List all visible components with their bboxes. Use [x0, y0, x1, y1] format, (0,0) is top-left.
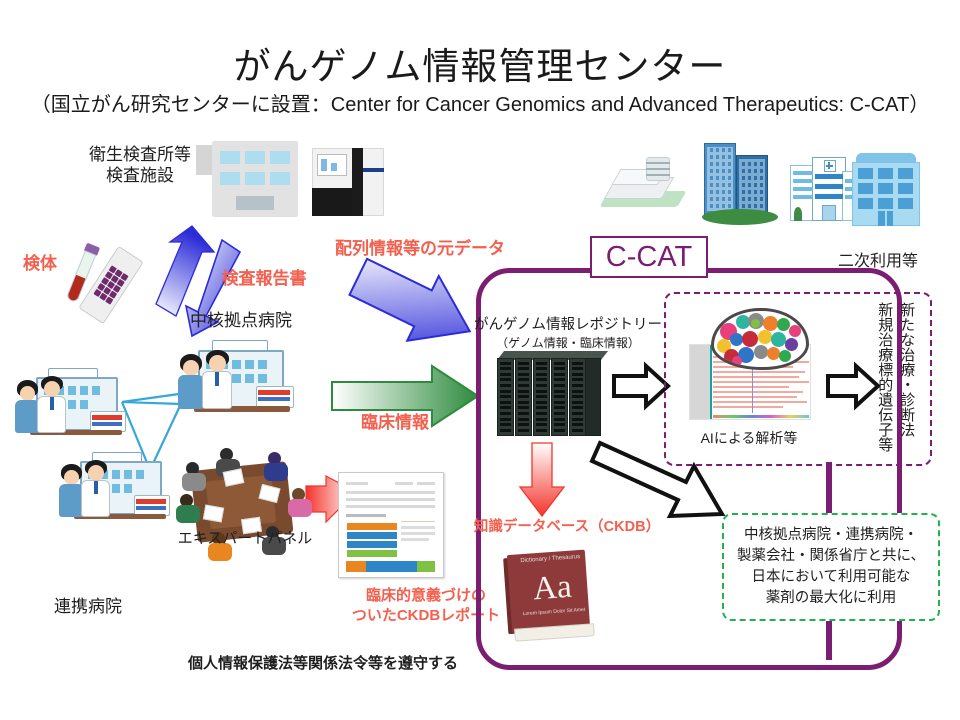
lab-building-annex [196, 145, 212, 175]
outcome-label-new-target-gene: 新規治療標的遺伝子等 [876, 302, 893, 458]
brain-gears-icon [711, 308, 809, 370]
apartment-building-icon [852, 153, 922, 227]
office-towers-icon [704, 143, 776, 225]
sequencer-icon [312, 148, 384, 216]
core-hospital-label: 中核拠点病院 [156, 310, 326, 331]
diagram-canvas: がんゲノム情報管理センター （国立がん研究センターに設置：Center for … [0, 0, 960, 720]
ckdb-report-document-icon [338, 472, 444, 578]
repository-title: がんゲノム情報レポジトリー [470, 316, 666, 334]
ai-analysis-icon [689, 308, 811, 426]
ccat-tag-label: C-CAT [606, 241, 692, 274]
lab-facility-label: 衛生検査所等 検査施設 [70, 144, 210, 187]
compliance-note: 個人情報保護法等関係法令等を遵守する [188, 652, 458, 673]
specimen-label: 検体 [8, 253, 72, 275]
clinical-info-label: 臨床情報 [340, 412, 450, 434]
outcome-label-new-therapy: 新たな治療・診断法 [898, 302, 915, 458]
utilization-box: 中核拠点病院・連携病院・ 製薬会社・関係省庁と共に、 日本において利用可能な 薬… [722, 513, 940, 621]
utilization-text: 中核拠点病院・連携病院・ 製薬会社・関係省庁と共に、 日本において利用可能な 薬… [737, 525, 925, 609]
lab-building-icon [212, 141, 298, 217]
server-rack-icon [497, 358, 601, 442]
ckdb-book-icon: Dictionary / Thesaurus Aa Lorem Ipsum Do… [503, 549, 603, 647]
secondary-use-label: 二次利用等 [818, 252, 938, 272]
ai-analysis-label: AIによる解析等 [672, 430, 826, 448]
doctor-figure [200, 350, 234, 410]
partner-hospital-icon-2 [58, 452, 170, 518]
secondary-use-buildings [600, 135, 952, 233]
test-report-label: 検査報告書 [196, 268, 332, 290]
raw-sequence-data-label: 配列情報等の元データ [330, 238, 510, 260]
core-hospital-icon [176, 340, 294, 410]
research-facility-icon [600, 157, 690, 219]
doctor-figure [36, 376, 68, 434]
repository-subtitle: （ゲノム情報・臨床情報） [470, 336, 666, 351]
doctor-figure [80, 460, 112, 518]
partner-hospital-label: 連携病院 [8, 596, 168, 617]
expert-panel-label: エキスパートパネル [160, 530, 330, 549]
page-title: がんゲノム情報管理センター [0, 36, 960, 90]
arrow-raw-sequence-data [342, 244, 485, 363]
ccat-tag: C-CAT [590, 236, 708, 278]
partner-hospital-icon-1 [14, 368, 126, 434]
ckdb-label: 知識データベース（CKDB） [462, 518, 672, 537]
page-subtitle: （国立がん研究センターに設置：Center for Cancer Genomic… [0, 88, 960, 117]
